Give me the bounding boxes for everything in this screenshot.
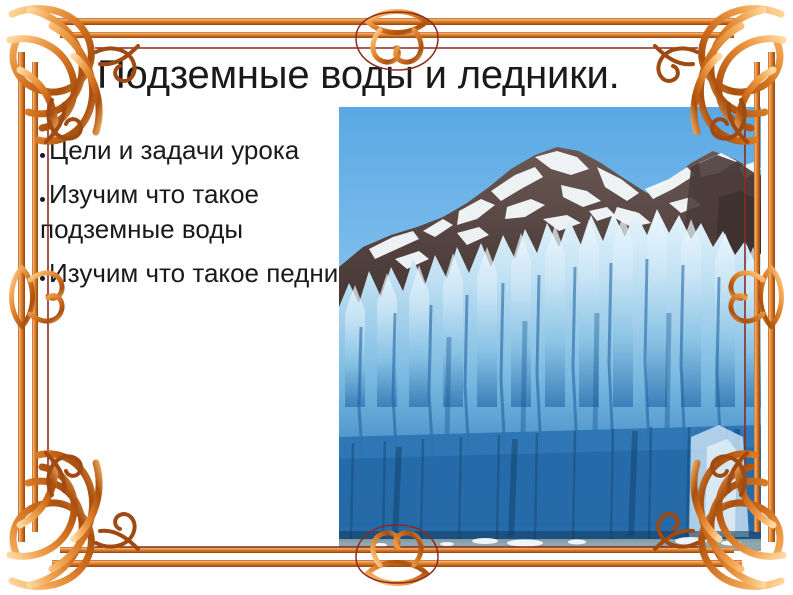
glacier-photo — [339, 107, 761, 551]
corner-ornament-bottom-left — [10, 454, 99, 587]
list-item-text: Изучим что такое подземные воды — [40, 179, 259, 244]
bullet-marker-icon — [40, 177, 49, 212]
bullet-list: Цели и задачи урока Изучим что такое под… — [40, 133, 380, 291]
bullet-marker-icon — [40, 256, 49, 291]
corner-ornament-top-left — [10, 9, 99, 142]
presentation-slide: Подземные воды и ледники. Цели и задачи … — [0, 0, 793, 595]
list-item-text: Цели и задачи урока — [49, 135, 299, 165]
list-item: Изучим что такое подземные воды — [40, 177, 380, 247]
list-item-text: Изучим что такое педники. — [49, 258, 371, 288]
slide-title: Подземные воды и ледники. — [97, 50, 697, 102]
bullet-marker-icon — [40, 133, 49, 168]
list-item: Цели и задачи урока — [40, 133, 380, 168]
corner-scroll-bottom-left — [46, 453, 138, 549]
list-item: Изучим что такое педники. — [40, 256, 380, 291]
